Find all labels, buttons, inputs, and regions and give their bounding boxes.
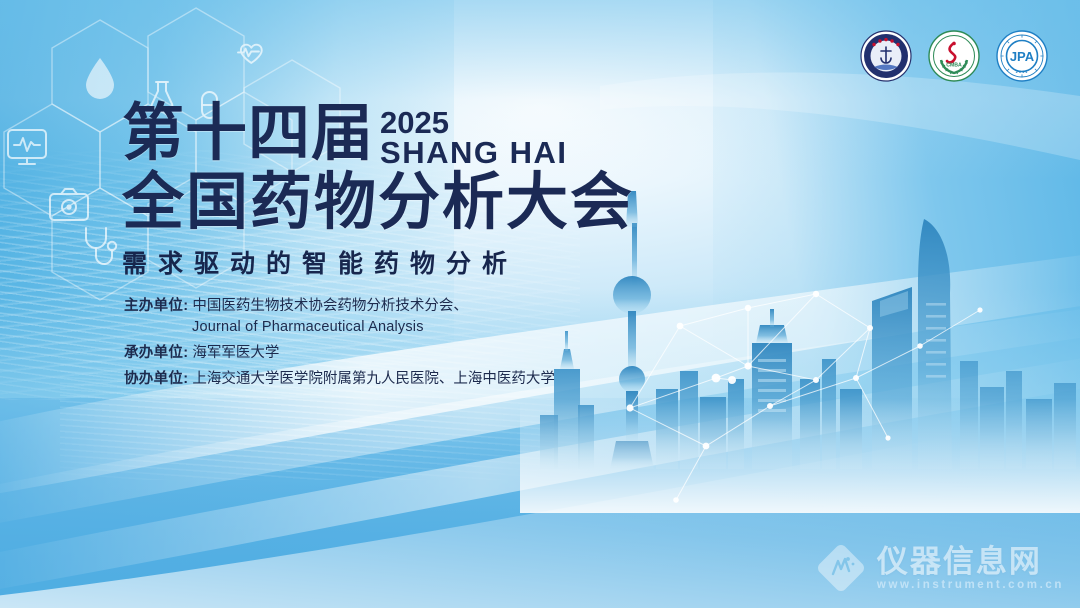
poster-title-block: 第十四届 2025 SHANG HAI 全国药物分析大会 需求驱动的智能药物分析	[122, 104, 762, 280]
background-bottom-deep	[0, 398, 1080, 608]
organizer-label: 协办单位:	[124, 369, 188, 390]
organization-logos: CMBA JPA 2011	[860, 30, 1048, 82]
organizer-item: 协办单位: 上海交通大学医学院附属第九人民医院、上海中医药大学	[124, 369, 744, 390]
organizer-value: 海军军医大学	[192, 343, 279, 364]
year-label: 2025	[380, 108, 567, 137]
organizer-item: 主办单位: 中国医药生物技术协会药物分析技术分会、 Journal of Pha…	[124, 296, 744, 338]
svg-text:CMBA: CMBA	[946, 63, 962, 69]
conference-subtitle: 需求驱动的智能药物分析	[122, 244, 762, 280]
year-city-group: 2025 SHANG HAI	[380, 108, 567, 168]
naval-medical-university-logo	[860, 30, 912, 82]
title-row-primary: 第十四届 2025 SHANG HAI	[122, 104, 762, 168]
conference-title: 全国药物分析大会	[122, 168, 762, 238]
jpa-journal-logo: JPA 2011	[996, 30, 1048, 82]
organizer-list: 主办单位: 中国医药生物技术协会药物分析技术分会、 Journal of Pha…	[124, 296, 744, 390]
organizer-item: 承办单位: 海军军医大学	[124, 343, 744, 364]
edition-title: 第十四届	[122, 104, 374, 164]
organizer-extra: Journal of Pharmaceutical Analysis	[192, 317, 744, 338]
svg-text:JPA: JPA	[1010, 49, 1035, 64]
organizer-label: 主办单位:	[124, 296, 188, 317]
cmba-association-logo: CMBA	[928, 30, 980, 82]
organizer-value: 上海交通大学医学院附属第九人民医院、上海中医药大学	[192, 369, 555, 390]
organizer-label: 承办单位:	[124, 343, 188, 364]
conference-poster: CMBA JPA 2011 第十四届 2025 SHANG H	[0, 0, 1080, 608]
organizer-value: 中国医药生物技术协会药物分析技术分会、	[192, 296, 468, 317]
svg-text:2011: 2011	[1016, 69, 1029, 74]
city-label-en: SHANG HAI	[380, 137, 567, 168]
